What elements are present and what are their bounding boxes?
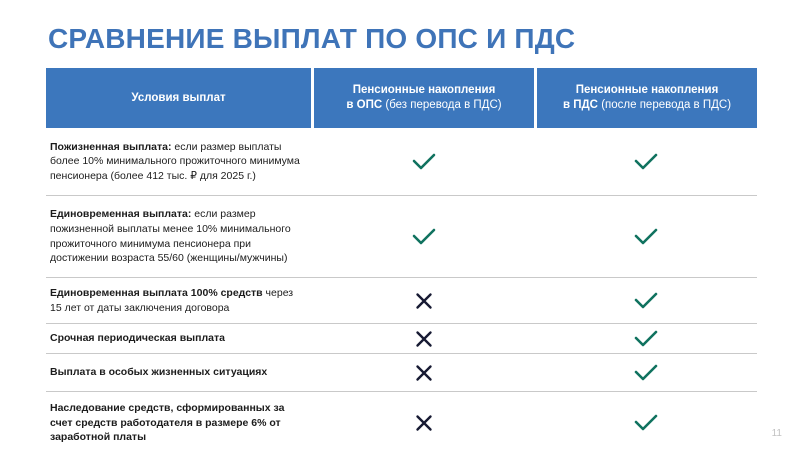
row-ops-mark xyxy=(314,392,534,454)
check-icon xyxy=(633,152,659,172)
table-row: Срочная периодическая выплата xyxy=(46,324,757,354)
row-condition-lead: Единовременная выплата: xyxy=(50,208,191,220)
check-icon xyxy=(633,329,659,349)
row-condition-text: Наследование средств, сформированных за … xyxy=(46,392,314,454)
check-icon xyxy=(633,227,659,247)
row-condition-text: Пожизненная выплата: если размер выплаты… xyxy=(46,128,314,195)
row-ops-mark xyxy=(314,196,534,277)
row-pds-mark xyxy=(534,278,757,323)
row-condition-lead: Пожизненная выплата: xyxy=(50,141,171,153)
cross-icon xyxy=(415,292,433,310)
row-pds-mark xyxy=(534,354,757,391)
row-condition-lead: Срочная периодическая выплата xyxy=(50,332,225,344)
comparison-table: Условия выплат Пенсионные накопления в О… xyxy=(46,68,757,454)
slide-root: СРАВНЕНИЕ ВЫПЛАТ ПО ОПС И ПДС Условия вы… xyxy=(0,0,800,450)
check-icon xyxy=(633,291,659,311)
column-header-ops-line1: Пенсионные накопления xyxy=(346,83,501,98)
table-row: Единовременная выплата: если размер пожи… xyxy=(46,196,757,278)
table-header-row: Условия выплат Пенсионные накопления в О… xyxy=(46,68,757,128)
page-number: 11 xyxy=(772,428,782,439)
row-ops-mark xyxy=(314,324,534,353)
row-condition-lead: Наследование средств, сформированных за … xyxy=(50,402,284,443)
row-pds-mark xyxy=(534,196,757,277)
row-pds-mark xyxy=(534,392,757,454)
page-title: СРАВНЕНИЕ ВЫПЛАТ ПО ОПС И ПДС xyxy=(48,22,758,56)
column-header-ops-abbr: в ОПС xyxy=(346,99,385,111)
row-ops-mark xyxy=(314,128,534,195)
column-header-pds-line2: в ПДС (после перевода в ПДС) xyxy=(563,98,731,113)
row-condition-text: Срочная периодическая выплата xyxy=(46,324,314,353)
table-body: Пожизненная выплата: если размер выплаты… xyxy=(46,128,757,454)
row-pds-mark xyxy=(534,324,757,353)
column-header-ops-line2: в ОПС (без перевода в ПДС) xyxy=(346,98,501,113)
row-condition-text: Единовременная выплата: если размер пожи… xyxy=(46,196,314,277)
column-header-ops: Пенсионные накопления в ОПС (без перевод… xyxy=(314,68,534,128)
column-header-pds-abbr: в ПДС xyxy=(563,99,601,111)
check-icon xyxy=(411,227,437,247)
column-header-pds: Пенсионные накопления в ПДС (после перев… xyxy=(537,68,757,128)
table-row: Выплата в особых жизненных ситуациях xyxy=(46,354,757,392)
table-row: Единовременная выплата 100% средств чере… xyxy=(46,278,757,324)
column-header-pds-line1: Пенсионные накопления xyxy=(563,83,731,98)
check-icon xyxy=(633,413,659,433)
row-condition-lead: Выплата в особых жизненных ситуациях xyxy=(50,366,267,378)
column-header-ops-note: (без перевода в ПДС) xyxy=(385,99,501,111)
row-pds-mark xyxy=(534,128,757,195)
table-row: Пожизненная выплата: если размер выплаты… xyxy=(46,128,757,196)
cross-icon xyxy=(415,330,433,348)
table-row: Наследование средств, сформированных за … xyxy=(46,392,757,454)
row-ops-mark xyxy=(314,354,534,391)
row-ops-mark xyxy=(314,278,534,323)
cross-icon xyxy=(415,414,433,432)
row-condition-text: Выплата в особых жизненных ситуациях xyxy=(46,354,314,391)
row-condition-text: Единовременная выплата 100% средств чере… xyxy=(46,278,314,323)
row-condition-lead: Единовременная выплата 100% средств xyxy=(50,287,263,299)
check-icon xyxy=(633,363,659,383)
check-icon xyxy=(411,152,437,172)
cross-icon xyxy=(415,364,433,382)
column-header-conditions-label: Условия выплат xyxy=(131,91,225,106)
column-header-pds-note: (после перевода в ПДС) xyxy=(601,99,731,111)
column-header-conditions: Условия выплат xyxy=(46,68,311,128)
